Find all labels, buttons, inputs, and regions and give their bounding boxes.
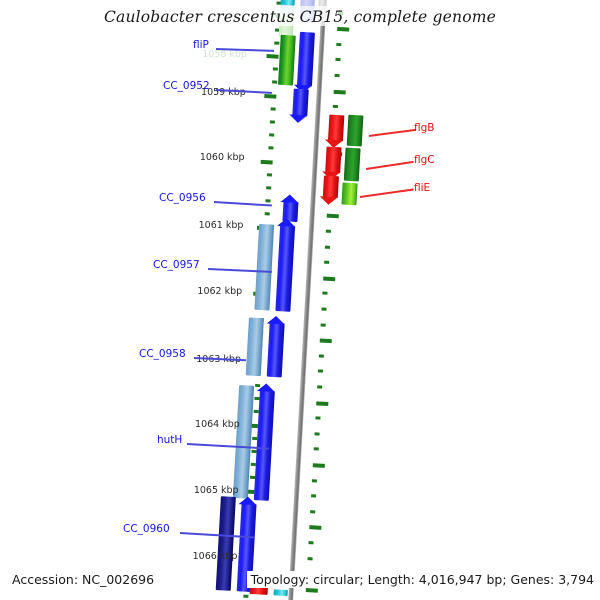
cds-flgC-red[interactable] [325, 147, 341, 174]
ruler-minor-tick [312, 479, 317, 482]
accession-label: Accession: NC_002696 [12, 571, 157, 588]
ruler-minor-tick [317, 385, 322, 388]
ruler-minor-tick [321, 307, 326, 310]
cds-fliE-red[interactable] [323, 175, 339, 198]
gene-label-flgb[interactable]: flgB [414, 122, 434, 134]
gene-label-flgc[interactable]: flgC [414, 154, 435, 166]
gene-label-huth[interactable]: hutH [157, 434, 182, 446]
cds-fliP-blue[interactable] [297, 32, 315, 87]
gene-label-cc_0952[interactable]: CC_0952 [163, 80, 210, 92]
tilted-sequence-panel [0, 0, 600, 600]
ruler-minor-tick [271, 107, 276, 110]
ruler-scale-label: 1060 kbp [183, 152, 245, 163]
gene-label-cc_0960[interactable]: CC_0960 [123, 523, 170, 535]
ruler-minor-tick [333, 105, 338, 108]
ruler-major-tick [313, 463, 325, 468]
gene-flgC-green[interactable] [344, 148, 361, 182]
ruler-minor-tick [324, 261, 329, 264]
ruler-minor-tick [269, 133, 274, 136]
title-backdrop [148, 6, 458, 26]
ruler-major-tick [323, 276, 335, 281]
status-bar-text: Topology: circular; Length: 4,016,947 bp… [247, 571, 596, 588]
ruler-minor-tick [267, 173, 272, 176]
ruler-major-tick [266, 54, 278, 59]
ruler-major-tick [320, 339, 332, 344]
ruler-minor-tick [319, 354, 324, 357]
cds-fliP-green[interactable] [278, 35, 296, 86]
ruler-major-tick [327, 214, 339, 219]
ruler-minor-tick [315, 417, 320, 420]
gene-label-flie[interactable]: fliE [414, 182, 430, 194]
ruler-scale-label: 1065 kbp [177, 485, 239, 496]
cds-CC_0957-blue[interactable] [275, 225, 295, 312]
ruler-scale-label: 1062 kbp [180, 286, 242, 297]
ruler-minor-tick [268, 147, 273, 150]
ruler-minor-tick [322, 292, 327, 295]
ruler-minor-tick [318, 370, 323, 373]
ruler-minor-tick [321, 323, 326, 326]
ruler-minor-tick [325, 245, 330, 248]
ruler-minor-tick [308, 541, 313, 544]
gene-label-flip[interactable]: fliP [193, 39, 209, 51]
gene-flgB-green[interactable] [347, 115, 364, 147]
ruler-major-tick [334, 89, 346, 94]
ruler-minor-tick [310, 510, 315, 513]
ruler-scale-label: 1064 kbp [178, 419, 240, 430]
ruler-minor-tick [274, 41, 279, 44]
ruler-minor-tick [265, 213, 270, 216]
gene-label-cc_0956[interactable]: CC_0956 [159, 192, 206, 204]
ruler-minor-tick [335, 58, 340, 61]
genome-viewer-canvas[interactable]: 1058 kbp1059 kbp1060 kbp1061 kbp1062 kbp… [0, 0, 600, 600]
ruler-minor-tick [311, 494, 316, 497]
cds-CC_0952-blue[interactable] [292, 89, 308, 117]
ruler-minor-tick [336, 43, 341, 46]
ruler-minor-tick [314, 448, 319, 451]
ruler-minor-tick [326, 230, 331, 233]
ruler-minor-tick [270, 120, 275, 123]
ruler-major-tick [316, 401, 328, 406]
gene-label-cc_0957[interactable]: CC_0957 [153, 259, 200, 271]
ruler-major-tick [306, 588, 318, 593]
ruler-scale-label: 1061 kbp [181, 220, 243, 231]
ruler-major-tick [261, 159, 273, 164]
cds-flgB-red[interactable] [328, 115, 344, 142]
ruler-minor-tick [335, 74, 340, 77]
ruler-minor-tick [266, 186, 271, 189]
cds-bottom-cyan[interactable] [273, 589, 287, 596]
gene-label-cc_0958[interactable]: CC_0958 [139, 348, 186, 360]
ruler-minor-tick [243, 595, 248, 598]
ruler-minor-tick [273, 68, 278, 71]
ruler-minor-tick [314, 432, 319, 435]
gene-fliE-green[interactable] [341, 182, 357, 205]
ruler-major-tick [337, 27, 349, 32]
ruler-major-tick [309, 526, 321, 531]
ruler-minor-tick [272, 81, 277, 84]
cds-CC_0958-blue[interactable] [267, 323, 285, 378]
ruler-minor-tick [308, 557, 313, 560]
ruler-minor-tick [265, 199, 270, 202]
ruler-tick-column-right [303, 2, 360, 600]
ruler-major-tick [264, 94, 276, 99]
ruler-scale-label: 1066 kbp [175, 551, 237, 562]
